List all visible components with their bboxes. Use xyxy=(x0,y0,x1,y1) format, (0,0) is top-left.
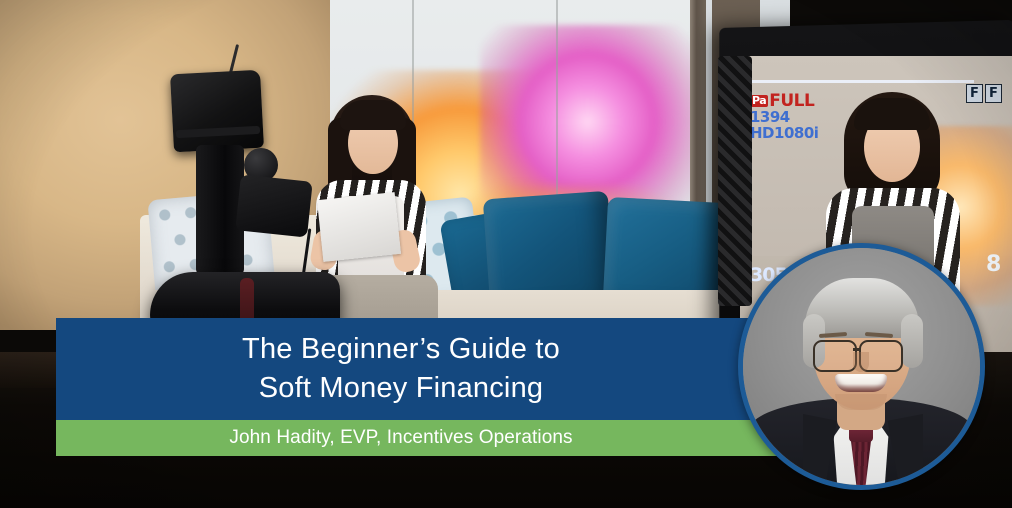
avatar-eyeglass-left xyxy=(813,340,857,372)
presenter-byline: John Hadity, EVP, Incentives Operations xyxy=(56,420,746,456)
avatar-eyeglass-bridge xyxy=(853,348,861,351)
avatar-hair-right xyxy=(901,314,923,368)
avatar-chin xyxy=(835,394,887,410)
presenter-avatar xyxy=(738,243,985,490)
avatar-smile xyxy=(835,374,887,392)
video-thumbnail-card: PaFULL 1394 HD1080i 305 8 F F xyxy=(0,0,1012,508)
avatar-nose xyxy=(853,352,869,372)
